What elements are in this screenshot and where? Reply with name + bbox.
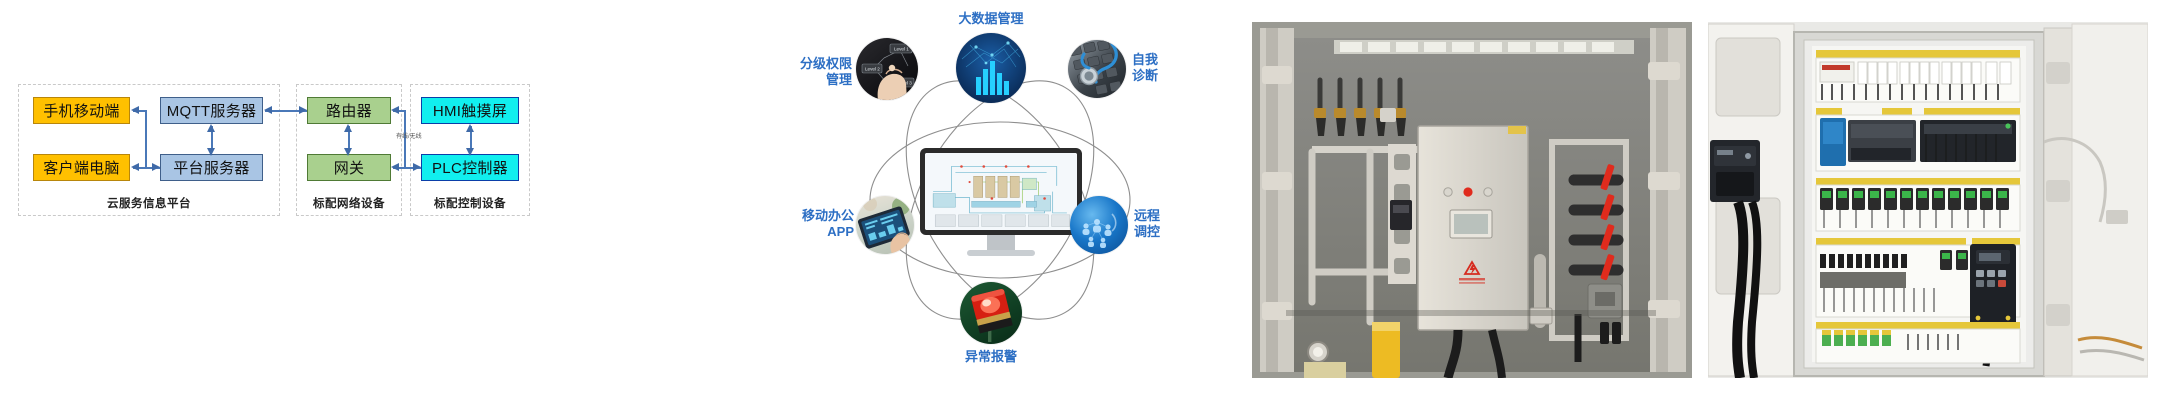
node-client-pc-label: 客户端电脑 [43,157,120,178]
arrowhead-plc-right [413,163,421,171]
iot-capability-infographic: 大数据管理 [760,0,1240,400]
arrowhead-mobile [131,106,139,114]
bubble-permission-levels[interactable]: Level 1 Level 2 Level 3 [856,38,918,100]
node-plc-controller-label: PLC控制器 [432,157,508,178]
dosing-cabinet-illustration [1252,22,1692,378]
monitor-neck [987,235,1015,250]
monitor-base [967,250,1035,256]
arrowhead-platform-down [207,148,215,156]
bubble-remote-control[interactable] [1070,196,1128,254]
node-mqtt-server[interactable]: MQTT服务器 [160,97,263,124]
arrowhead-gateway-from-bus [391,163,399,171]
globe-users-icon [1070,196,1128,254]
plc-cabinet-illustration [1708,22,2148,378]
scada-process-diagram [925,153,1077,230]
monitor-screen [925,153,1077,230]
connector-bus-vertical [145,110,147,168]
label-alarm: 异常报警 [941,349,1041,365]
globe-users-glyph [1070,196,1128,254]
outdoor-dosing-cabinet-photo [1252,22,1692,378]
label-remote-control: 远程 调控 [1134,208,1192,241]
label-self-diagnosis: 自我 诊断 [1132,52,1190,85]
label-mobile-app: 移动办公 APP [782,208,854,241]
node-mobile-terminal-label: 手机移动端 [43,100,120,121]
node-client-pc[interactable]: 客户端电脑 [33,154,130,181]
tablet-glyph [856,196,914,254]
group-cloud-platform-label: 云服务信息平台 [19,195,279,211]
arrowhead-router-up [344,124,352,132]
stethoscope-glyph [1068,40,1126,98]
arrowhead-router-from-bus [391,106,399,114]
bubble-mobile-app[interactable] [856,196,914,254]
group-network-devices-label: 标配网络设备 [297,195,401,211]
bigdata-glyph [956,33,1026,103]
svg-text:Level 2: Level 2 [865,67,880,72]
stethoscope-keyboard-icon [1068,40,1126,98]
node-router[interactable]: 路由器 [307,97,391,124]
permission-glyph: Level 1 Level 2 Level 3 [856,38,918,100]
system-architecture-diagram: 云服务信息平台 标配网络设备 标配控制设备 手机移动端 客户端电脑 MQTT服务… [0,0,760,400]
arrowhead-plc-down [466,148,474,156]
arrowhead-router-right [299,106,307,114]
red-beacon-light-icon [960,282,1022,344]
arrowhead-hmi-up [466,124,474,132]
bubble-alarm[interactable] [960,282,1022,344]
node-mqtt-server-label: MQTT服务器 [167,100,257,121]
node-platform-server-label: 平台服务器 [173,157,250,178]
tablet-hand-icon [856,196,914,254]
beacon-glyph [960,282,1022,344]
screenshot-root: 云服务信息平台 标配网络设备 标配控制设备 手机移动端 客户端电脑 MQTT服务… [0,0,2160,400]
bubble-self-diagnosis[interactable] [1068,40,1126,98]
node-router-label: 路由器 [326,100,372,121]
label-bigdata: 大数据管理 [941,11,1041,27]
monitor-bezel [920,148,1082,235]
arrowhead-bus-right [152,163,160,171]
arrowhead-mqtt-up [207,124,215,132]
node-gateway-label: 网关 [334,157,365,178]
label-permission-levels: 分级权限 管理 [772,56,852,89]
node-plc-controller[interactable]: PLC控制器 [421,154,519,181]
node-mobile-terminal[interactable]: 手机移动端 [33,97,130,124]
central-scada-monitor [920,148,1082,260]
svg-text:Level 1: Level 1 [894,47,909,52]
equipment-photos [1240,0,2160,400]
bar-chart-network-icon [956,33,1026,103]
link-label-router: 有线/无线 [396,131,422,140]
node-hmi-touch-screen[interactable]: HMI触摸屏 [421,97,519,124]
node-hmi-touch-screen-label: HMI触摸屏 [433,100,507,121]
node-platform-server[interactable]: 平台服务器 [160,154,263,181]
bubble-bigdata[interactable] [956,33,1026,103]
arrowhead-mqtt-left [264,106,272,114]
plc-control-cabinet-interior-photo [1708,22,2148,378]
group-control-devices-label: 标配控制设备 [411,195,529,211]
arrowhead-gateway-down [344,148,352,156]
node-gateway[interactable]: 网关 [307,154,391,181]
arrowhead-clientpc [131,163,139,171]
level-permission-hand-icon: Level 1 Level 2 Level 3 [856,38,918,100]
